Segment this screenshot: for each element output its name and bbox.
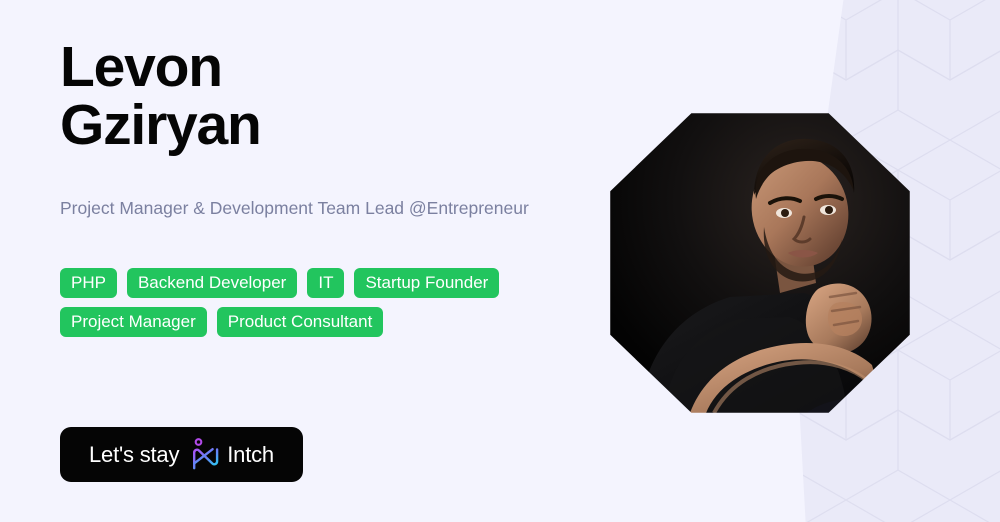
- profile-content: Levon Gziryan Project Manager & Developm…: [60, 0, 580, 522]
- skill-tag-list: PHP Backend Developer IT Startup Founder…: [60, 268, 540, 337]
- cta-label: Let's stay: [89, 442, 179, 468]
- profile-card: Levon Gziryan Project Manager & Developm…: [0, 0, 1000, 522]
- skill-tag[interactable]: Backend Developer: [127, 268, 297, 298]
- cta-brand-label: Intch: [227, 442, 274, 468]
- skill-tag[interactable]: PHP: [60, 268, 117, 298]
- profile-subtitle: Project Manager & Development Team Lead …: [60, 198, 530, 219]
- skill-tag[interactable]: IT: [307, 268, 344, 298]
- first-name: Levon: [60, 38, 580, 96]
- skill-tag[interactable]: Product Consultant: [217, 307, 384, 337]
- profile-photo: [604, 107, 916, 419]
- last-name: Gziryan: [60, 96, 580, 154]
- page-title: Levon Gziryan: [60, 38, 580, 154]
- skill-tag[interactable]: Project Manager: [60, 307, 207, 337]
- profile-photo-frame: [604, 107, 916, 419]
- skill-tag[interactable]: Startup Founder: [354, 268, 499, 298]
- lets-stay-intch-button[interactable]: Let's stay Intch: [60, 427, 303, 482]
- intch-logo-icon: [189, 437, 219, 473]
